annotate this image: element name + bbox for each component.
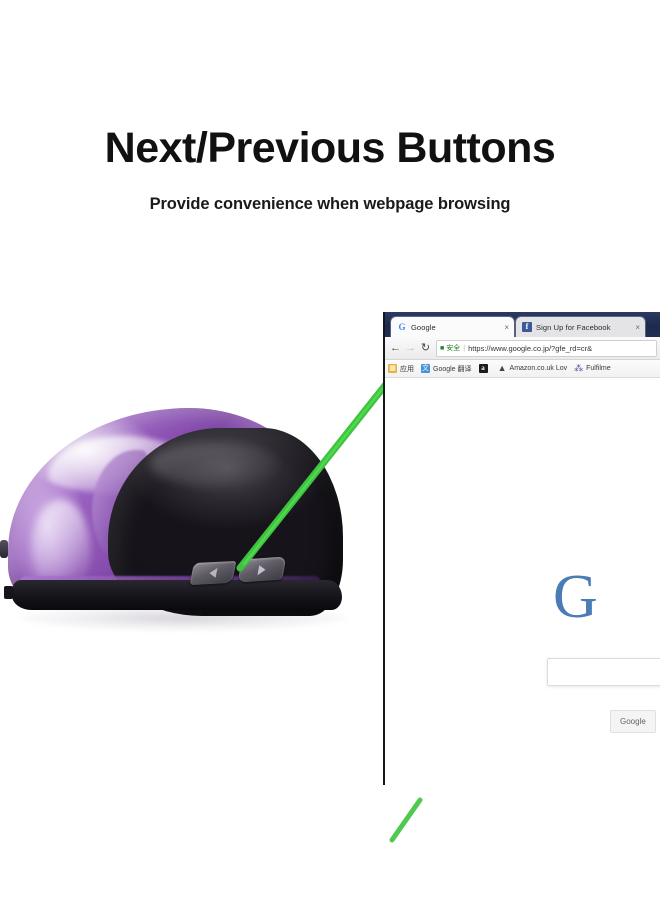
lock-icon: ■ [440,345,444,352]
bookmarks-bar: ▦ 应用 文 Google 翻译 a ▲ Amazon.co.uk Lov ⁂ … [385,360,660,378]
apps-icon: ▦ [388,364,397,373]
address-bar[interactable]: ■ 安全 | https://www.google.co.jp/?gfe_rd=… [436,340,657,357]
arrow-left-icon [208,568,217,578]
tab-title: Sign Up for Facebook [536,323,632,332]
tab-strip: G Google × f Sign Up for Facebook × [391,317,660,337]
amazon-uk-icon: ▲ [498,364,507,373]
bookmark-amazon[interactable]: a [479,364,491,373]
bookmark-label: Google 翻译 [433,364,472,374]
page-subtitle: Provide convenience when webpage browsin… [0,195,660,214]
google-favicon-icon: G [397,322,407,332]
body-highlight [150,442,280,486]
fulfilment-icon: ⁂ [574,364,583,373]
browser-window: G Google × f Sign Up for Facebook × ← → … [383,312,660,785]
product-image-vertical-mouse [0,390,380,650]
close-icon[interactable]: × [504,323,509,332]
translate-icon: 文 [421,364,430,373]
browser-page-content: G Google [385,378,660,785]
tab-google[interactable]: G Google × [391,317,514,337]
bookmark-fulfilment[interactable]: ⁂ Fulfilme [574,364,611,373]
mouse-side-slot [0,540,8,558]
close-icon[interactable]: × [635,323,640,332]
browser-titlebar: G Google × f Sign Up for Facebook × [385,312,660,337]
arrow-right-icon [258,564,267,574]
bookmark-label: Fulfilme [586,365,611,372]
google-search-button[interactable]: Google [610,710,656,733]
amazon-icon: a [479,364,488,373]
google-logo: G [553,566,598,628]
forward-button[interactable]: → [403,343,418,354]
bookmark-label: 应用 [400,364,414,374]
browser-toolbar: ← → ↻ ■ 安全 | https://www.google.co.jp/?g… [385,337,660,360]
mouse-usb-port [4,586,13,599]
tab-facebook[interactable]: f Sign Up for Facebook × [516,317,645,337]
url-text: https://www.google.co.jp/?gfe_rd=cr& [468,344,653,353]
tab-title: Google [411,323,501,332]
bookmark-google-translate[interactable]: 文 Google 翻译 [421,364,472,374]
bookmark-amazon-uk[interactable]: ▲ Amazon.co.uk Lov [498,364,568,373]
secure-label: 安全 [446,343,460,353]
bookmark-apps[interactable]: ▦ 应用 [388,364,414,374]
mouse-base [12,580,342,610]
google-search-input[interactable] [547,658,660,686]
mouse-next-button[interactable] [238,556,287,582]
reload-button[interactable]: ↻ [418,343,433,354]
facebook-favicon-icon: f [522,322,532,332]
bookmark-label: Amazon.co.uk Lov [510,365,568,372]
page-title: Next/Previous Buttons [0,126,660,171]
back-button[interactable]: ← [388,343,403,354]
url-separator: | [463,345,465,352]
